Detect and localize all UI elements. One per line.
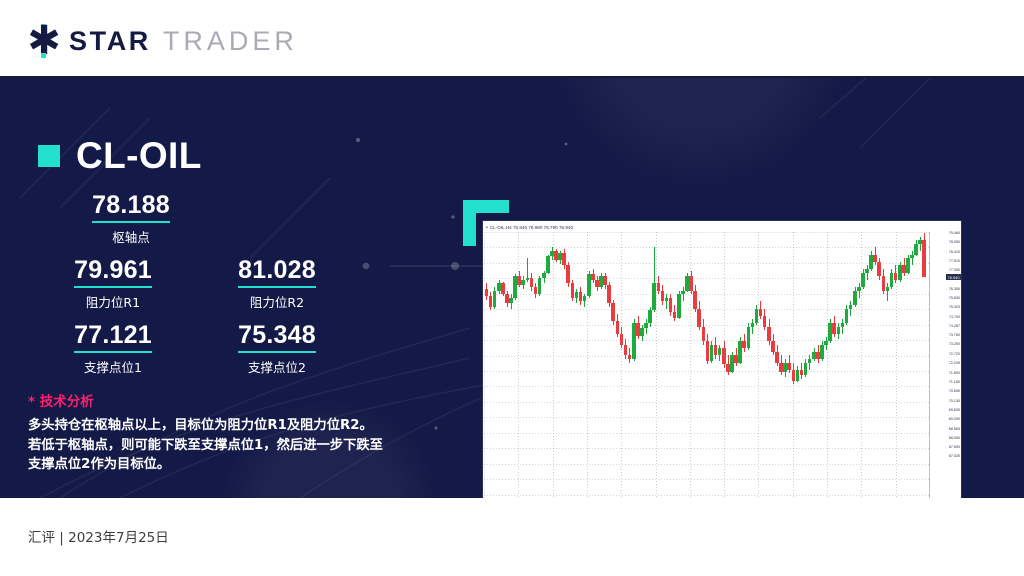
stat-r1-value: 79.961 <box>74 255 152 288</box>
asterisk-star-icon: ✱ <box>28 24 60 58</box>
analysis-line-3: 支撑点位2作为目标位。 <box>28 455 408 475</box>
gridline-horizontal <box>484 417 930 418</box>
chart-title: • CL-OIL,H4 76.840 76.980 76.790 76.940 <box>486 223 573 232</box>
stat-s2: 75.348 支撑点位2 <box>202 320 352 376</box>
gridline-horizontal <box>484 464 930 465</box>
logo-accent-square-bottom <box>41 53 46 58</box>
candlestick-series <box>484 232 930 498</box>
price-tick-label: 74.287 <box>949 323 960 328</box>
stat-r2-label: 阻力位R2 <box>202 292 352 311</box>
candle <box>922 232 926 498</box>
price-tick-label: 77.390 <box>949 267 960 272</box>
footer-caption: 汇评 | 2023年7月25日 <box>28 526 169 546</box>
gridline-horizontal <box>484 263 930 264</box>
price-tick-label: 68.060 <box>949 435 960 440</box>
price-tick-label: 78.410 <box>949 249 960 254</box>
price-tick-label: 75.320 <box>949 304 960 309</box>
gridline-horizontal <box>484 340 930 341</box>
gridline-horizontal <box>484 278 930 279</box>
stat-s2-label: 支撑点位2 <box>202 357 352 376</box>
support-row: 77.121 支撑点位1 75.348 支撑点位2 <box>38 320 388 385</box>
price-tick-label: 67.550 <box>949 444 960 449</box>
stat-pivot-value: 78.188 <box>92 190 170 223</box>
gridline-vertical <box>793 232 794 498</box>
analysis-heading: * 技术分析 <box>28 390 408 410</box>
gridline-vertical <box>758 232 759 498</box>
gridline-vertical <box>861 232 862 498</box>
gridline-horizontal <box>484 448 930 449</box>
stat-r1-label: 阻力位R1 <box>38 292 188 311</box>
price-tick-label: 79.460 <box>949 230 960 235</box>
price-tick-label: 74.790 <box>949 314 960 319</box>
analysis-body: 多头持仓在枢轴点以上，目标位为阻力位R1及阻力位R2。 若低于枢轴点，则可能下跌… <box>28 416 408 475</box>
resistance-row: 79.961 阻力位R1 81.028 阻力位R2 <box>38 255 388 320</box>
price-tick-label: 71.690 <box>949 370 960 375</box>
gridline-horizontal <box>484 309 930 310</box>
price-tick-label: 72.205 <box>949 360 960 365</box>
page-title: CL-OIL <box>76 135 202 177</box>
current-price-label: 76.940 <box>946 274 961 280</box>
pivot-stats: 78.188 枢轴点 79.961 阻力位R1 81.028 阻力位R2 77.… <box>38 190 388 385</box>
price-tick-label: 73.250 <box>949 341 960 346</box>
stat-r1: 79.961 阻力位R1 <box>38 255 188 311</box>
gridline-vertical <box>690 232 691 498</box>
asterisk-glyph: ✱ <box>28 27 60 55</box>
price-tick-label: 71.180 <box>949 379 960 384</box>
gridline-vertical <box>896 232 897 498</box>
price-tick-label: 78.950 <box>949 239 960 244</box>
gridline-horizontal <box>484 356 930 357</box>
analysis-line-1: 多头持仓在枢轴点以上，目标位为阻力位R1及阻力位R2。 <box>28 416 408 436</box>
stat-s2-value: 75.348 <box>238 320 316 353</box>
price-tick-label: 77.910 <box>949 258 960 263</box>
slide-root: ✱ STAR TRADER <box>0 0 1024 576</box>
price-tick-label: 69.605 <box>949 407 960 412</box>
gridline-vertical <box>827 232 828 498</box>
gridline-horizontal <box>484 402 930 403</box>
price-tick-label: 70.655 <box>949 388 960 393</box>
gridline-vertical <box>724 232 725 498</box>
main-panel: CL-OIL 78.188 枢轴点 79.961 阻力位R1 81.028 阻力… <box>0 78 1024 498</box>
price-tick-label: 72.720 <box>949 351 960 356</box>
chart-plot-area <box>484 232 930 498</box>
price-axis[interactable]: 79.46078.95078.41077.91077.39076.88076.3… <box>929 232 961 498</box>
gridline-horizontal <box>484 294 930 295</box>
stat-pivot: 78.188 枢轴点 <box>56 190 206 246</box>
price-tick-label: 67.025 <box>949 453 960 458</box>
gridline-vertical <box>553 232 554 498</box>
gridline-vertical <box>656 232 657 498</box>
gridline-horizontal <box>484 495 930 496</box>
pivot-row: 78.188 枢轴点 <box>38 190 388 255</box>
price-tick-label: 73.760 <box>949 332 960 337</box>
price-tick-label: 68.565 <box>949 426 960 431</box>
stat-pivot-label: 枢轴点 <box>56 227 206 246</box>
analysis-line-2: 若低于枢轴点，则可能下跌至支撑点位1，然后进一步下跌至 <box>28 436 408 456</box>
brand-name-bold: STAR <box>69 26 151 57</box>
price-tick-label: 70.130 <box>949 398 960 403</box>
chart-title-text: CL-OIL,H4 76.840 76.980 76.790 76.940 <box>490 225 573 230</box>
gridline-horizontal <box>484 433 930 434</box>
technical-analysis: * 技术分析 多头持仓在枢轴点以上，目标位为阻力位R1及阻力位R2。 若低于枢轴… <box>28 390 408 475</box>
page-header: ✱ STAR TRADER <box>0 0 1024 78</box>
square-marker-icon <box>38 145 60 167</box>
price-tick-label: 75.830 <box>949 295 960 300</box>
brand-logo[interactable]: ✱ STAR TRADER <box>28 24 298 58</box>
gridline-vertical <box>518 232 519 498</box>
price-tick-label: 76.350 <box>949 286 960 291</box>
price-chart[interactable]: • CL-OIL,H4 76.840 76.980 76.790 76.940 … <box>482 220 962 498</box>
stat-r2: 81.028 阻力位R2 <box>202 255 352 311</box>
page-footer: 汇评 | 2023年7月25日 <box>0 498 1024 576</box>
gridline-vertical <box>587 232 588 498</box>
instrument-title-row: CL-OIL <box>38 135 202 177</box>
gridline-horizontal <box>484 371 930 372</box>
gridline-horizontal <box>484 386 930 387</box>
stat-s1: 77.121 支撑点位1 <box>38 320 188 376</box>
gridline-vertical <box>621 232 622 498</box>
gridline-horizontal <box>484 479 930 480</box>
chart-title-bullet-icon: • <box>486 225 488 231</box>
price-tick-label: 69.090 <box>949 416 960 421</box>
stat-r2-value: 81.028 <box>238 255 316 288</box>
gridline-horizontal <box>484 247 930 248</box>
stat-s1-label: 支撑点位1 <box>38 357 188 376</box>
gridline-horizontal <box>484 325 930 326</box>
brand-name-light: TRADER <box>163 26 298 57</box>
stat-s1-value: 77.121 <box>74 320 152 353</box>
